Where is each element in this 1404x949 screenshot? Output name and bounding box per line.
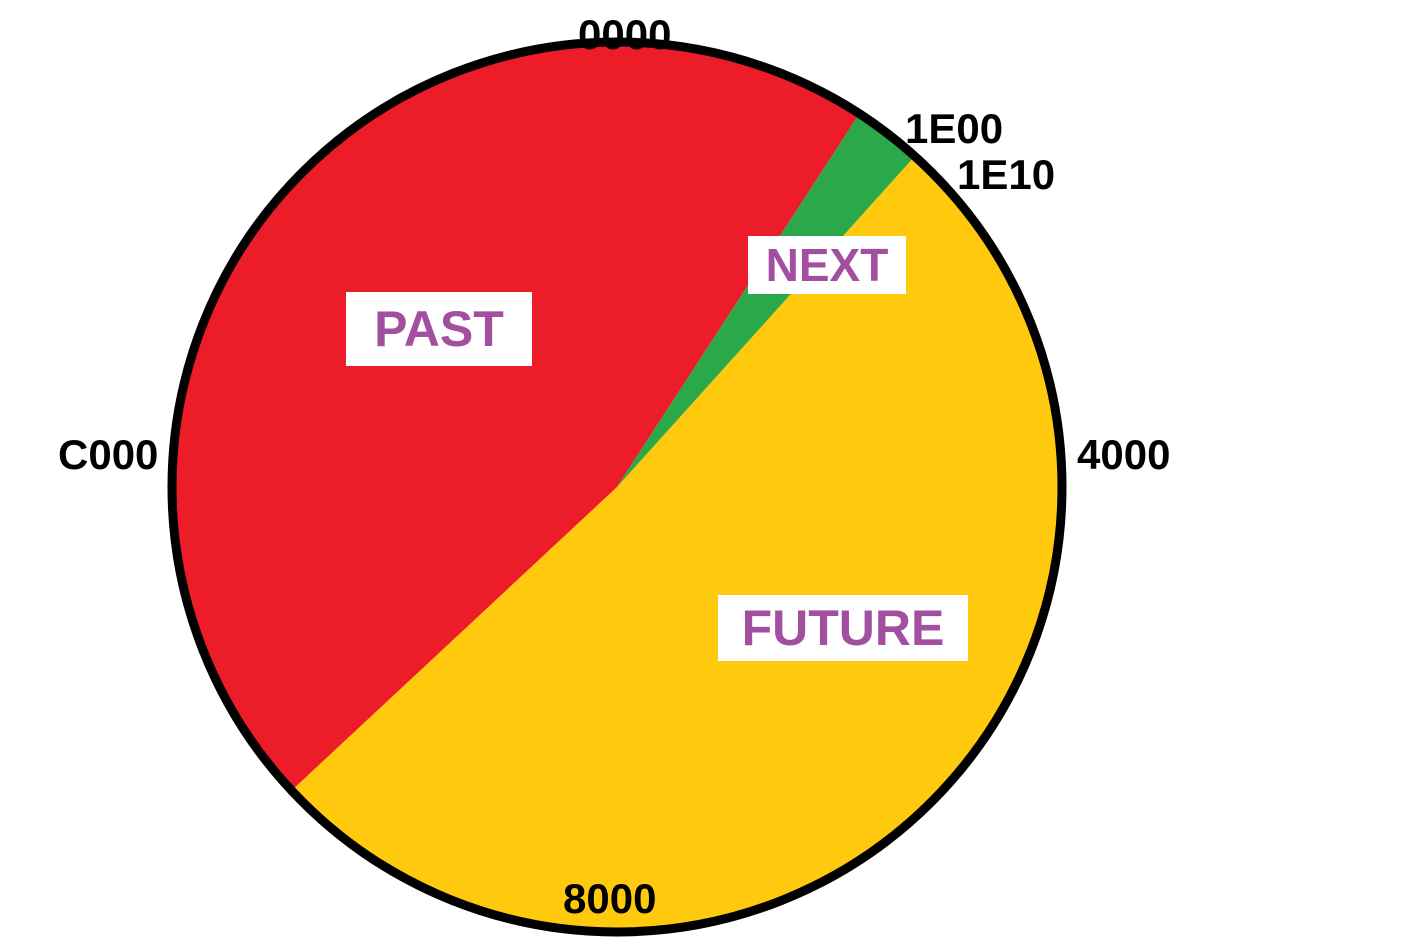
tick-label-0000: 0000 bbox=[578, 14, 671, 56]
address-space-wheel: 0000 1E00 1E10 4000 8000 C000 PAST NEXT … bbox=[0, 0, 1404, 949]
tick-label-1e00: 1E00 bbox=[905, 108, 1003, 150]
region-label-past: PAST bbox=[346, 292, 532, 366]
tick-label-1e10: 1E10 bbox=[957, 154, 1055, 196]
region-label-future: FUTURE bbox=[718, 595, 968, 661]
region-label-next: NEXT bbox=[748, 236, 906, 294]
pie-chart bbox=[0, 0, 1404, 949]
tick-label-8000: 8000 bbox=[563, 878, 656, 920]
tick-label-4000: 4000 bbox=[1077, 434, 1170, 476]
tick-label-c000: C000 bbox=[58, 434, 158, 476]
